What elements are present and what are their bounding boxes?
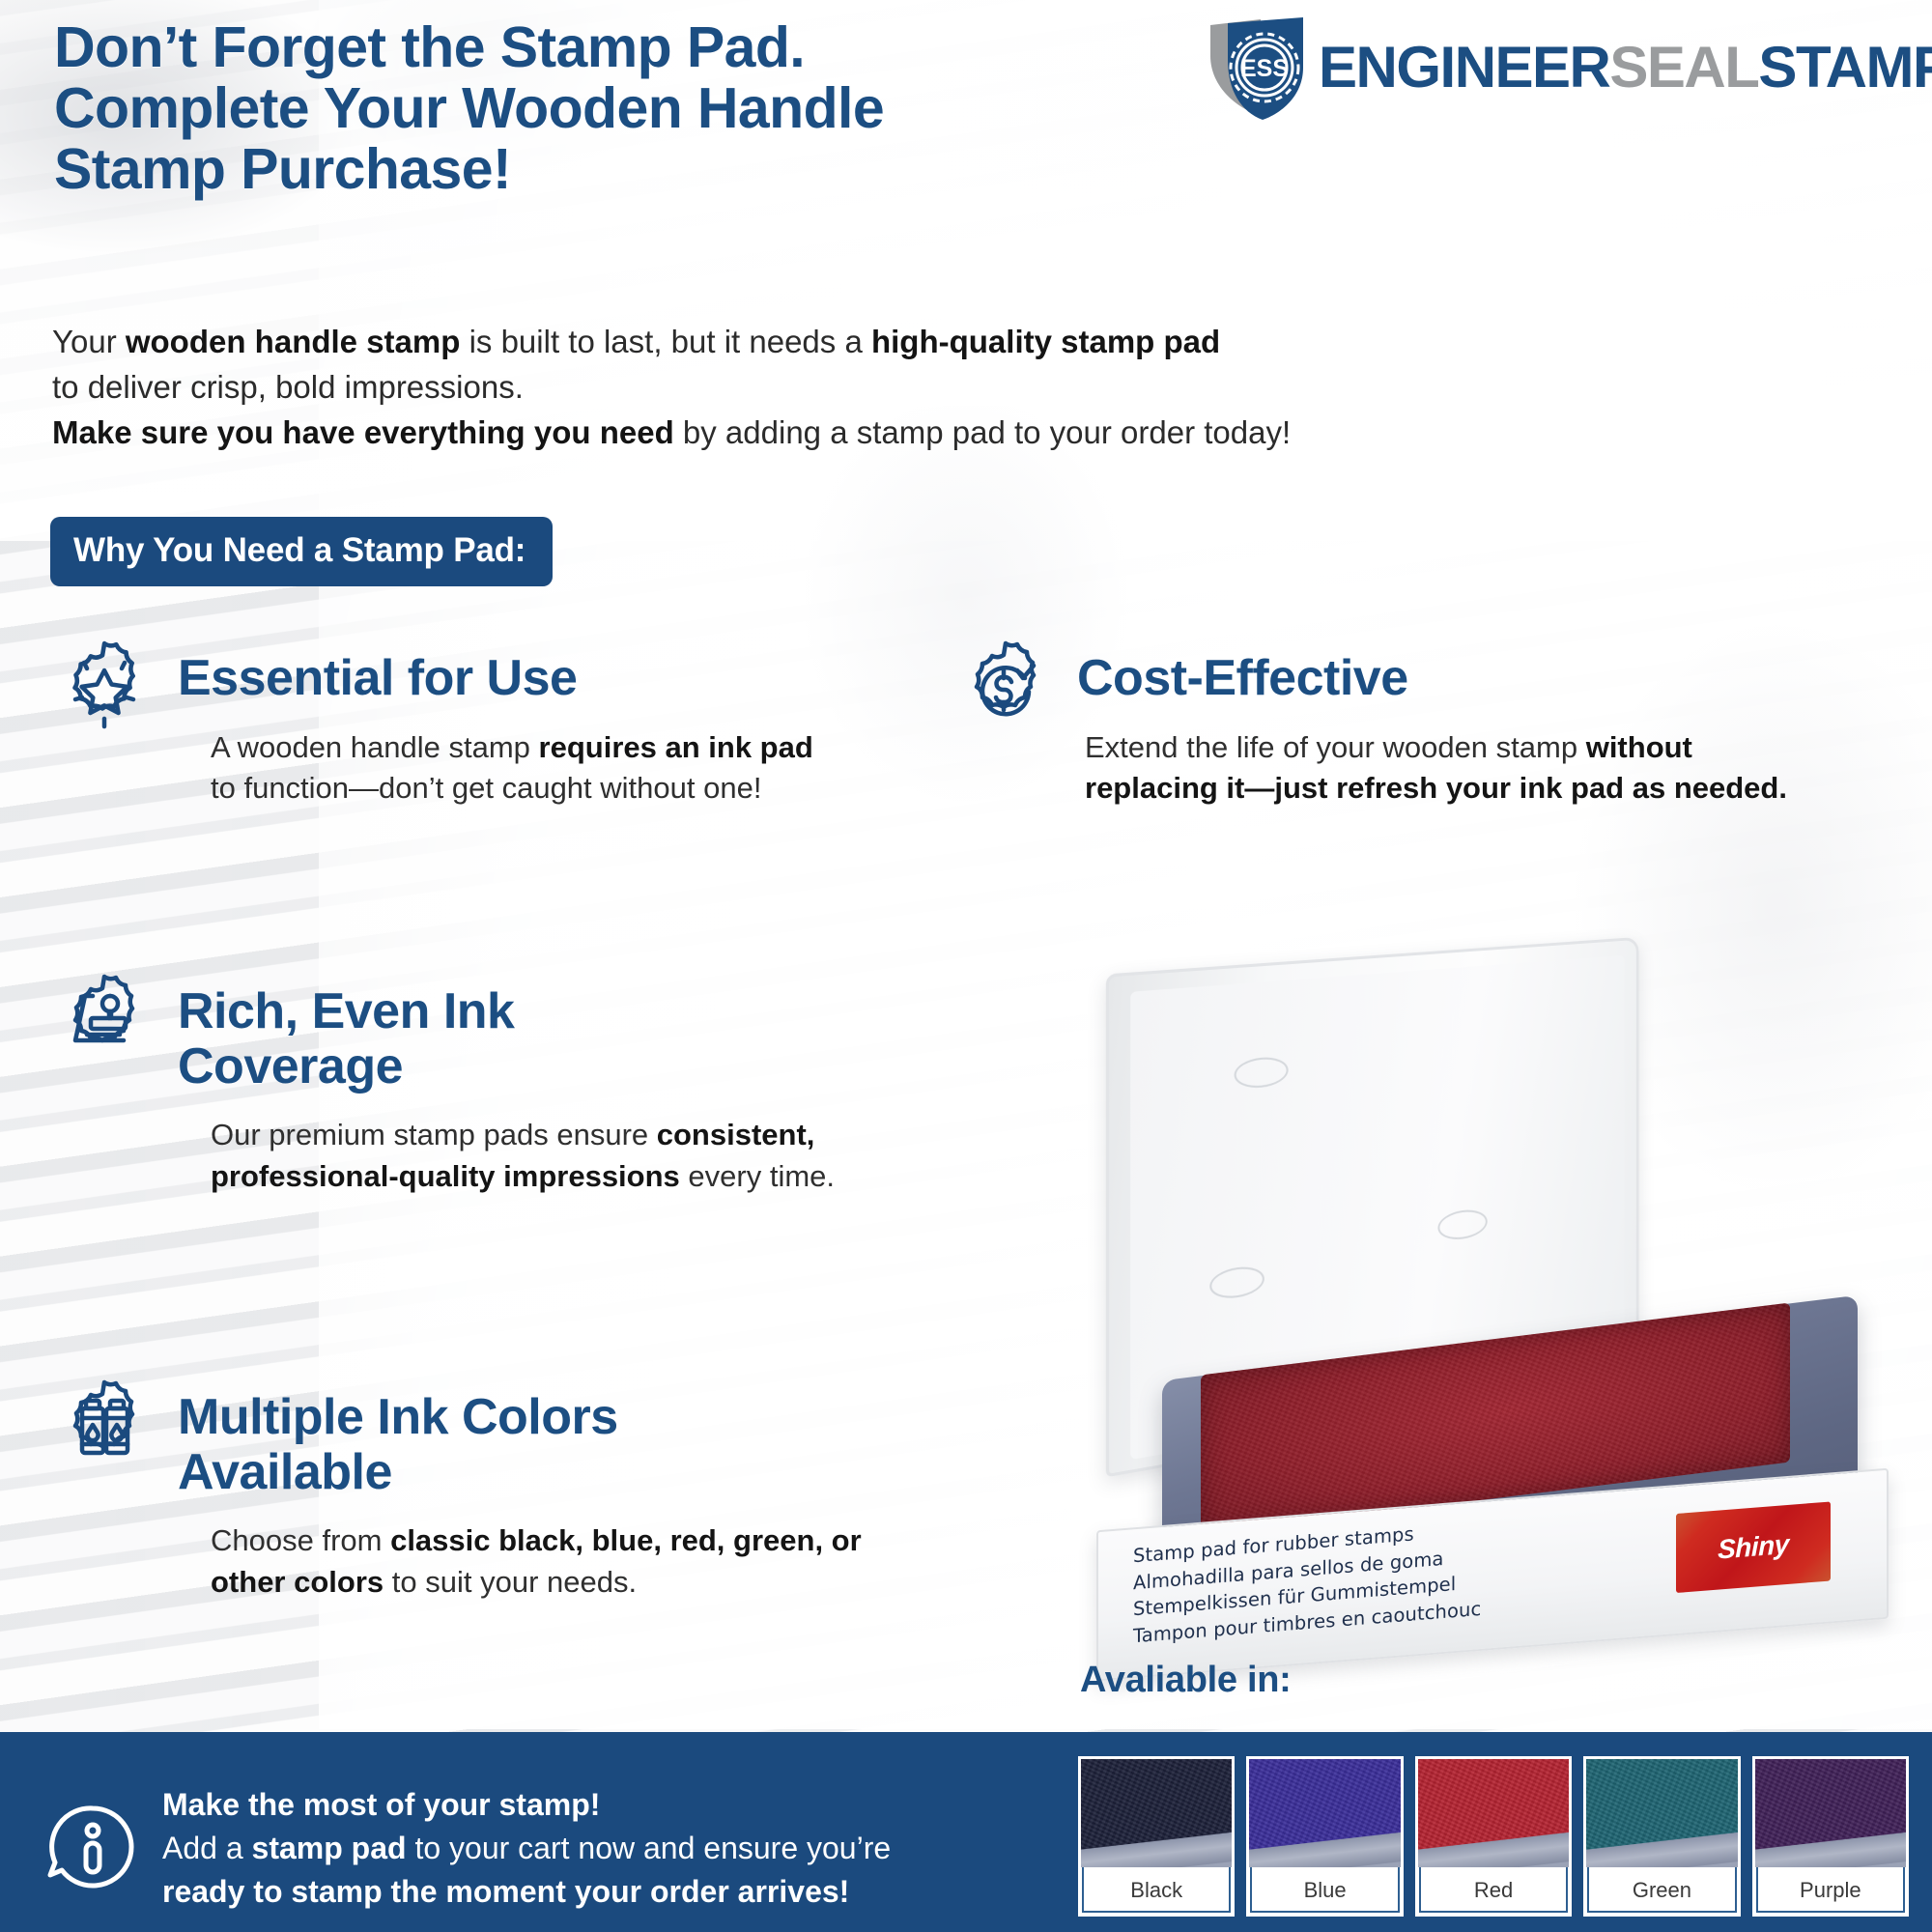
- info-speech-bubble-icon: [43, 1799, 143, 1899]
- logo-word-engineer: ENGINEER: [1319, 39, 1609, 97]
- intro-l3-b: by adding a stamp pad to your order toda…: [674, 414, 1291, 450]
- rubber-stamp-badge-icon: [50, 971, 158, 1079]
- feature-title: Multiple Ink Colors Available: [178, 1377, 920, 1499]
- retail-box-text: Stamp pad for rubber stamps Almohadilla …: [1133, 1516, 1481, 1650]
- ess-monogram-text: ESS: [1240, 55, 1289, 82]
- feature-title: Cost-Effective: [1077, 638, 1821, 706]
- feature-body-c: to function—don’t get caught without one…: [211, 771, 761, 805]
- banner-l2-b: stamp pad: [252, 1831, 407, 1865]
- available-in-heading: Avaliable in:: [1080, 1660, 1292, 1701]
- ink-color-swatch-strip: Black Blue Red Green: [1078, 1756, 1909, 1917]
- swatch-blue[interactable]: Blue: [1246, 1756, 1403, 1917]
- shiny-brand-text: Shiny: [1718, 1529, 1789, 1566]
- product-photo-stamp-pad: C-S Stamp pad for rubber stamps Almohadi…: [1087, 947, 1908, 1642]
- swatch-black[interactable]: Black: [1078, 1756, 1235, 1917]
- page-title: Don’t Forget the Stamp Pad. Complete You…: [54, 17, 1213, 200]
- intro-l1-c: is built to last, but it needs a: [460, 324, 871, 359]
- feature-body-b: requires an ink pad: [539, 730, 813, 764]
- intro-l1-b: wooden handle stamp: [126, 324, 461, 359]
- feature-body: Our premium stamp pads ensure consistent…: [211, 1115, 842, 1198]
- brand-logo[interactable]: ESS ENGINEER SEAL STAMPS .COM: [1203, 14, 1922, 122]
- feature-title: Essential for Use: [178, 638, 842, 706]
- swatch-label: Purple: [1755, 1867, 1906, 1914]
- ess-shield-icon: ESS: [1203, 14, 1317, 122]
- swatch-image: [1586, 1759, 1737, 1867]
- feature-body-a: Our premium stamp pads ensure: [211, 1118, 657, 1151]
- headline-line-1: Don’t Forget the Stamp Pad.: [54, 17, 1213, 78]
- headline-line-2: Complete Your Wooden Handle: [54, 78, 1213, 139]
- feature-title-line-2: Available: [178, 1445, 920, 1500]
- ink-bottles-badge-icon: [50, 1377, 158, 1485]
- banner-line-2: Add a stamp pad to your cart now and ens…: [162, 1827, 1051, 1870]
- swatch-label: Blue: [1249, 1867, 1400, 1914]
- feature-body: Extend the life of your wooden stamp wit…: [1085, 727, 1821, 810]
- swatch-image: [1249, 1759, 1400, 1867]
- banner-l2-c: to your cart now and ensure you’re: [407, 1831, 892, 1865]
- swatch-image: [1081, 1759, 1232, 1867]
- feature-cost-effective: Cost-Effective Extend the life of your w…: [952, 638, 1821, 810]
- headline-line-3: Stamp Purchase!: [54, 139, 1213, 200]
- swatch-label: Black: [1081, 1867, 1232, 1914]
- feature-body-c: to suit your needs.: [384, 1565, 637, 1599]
- feature-multiple-ink-colors: Multiple Ink Colors Available Choose fro…: [50, 1377, 920, 1604]
- swatch-label: Green: [1586, 1867, 1737, 1914]
- feature-body-a: Extend the life of your wooden stamp: [1085, 730, 1586, 764]
- banner-l2-a: Add a: [162, 1831, 252, 1865]
- feature-title-line-1: Multiple Ink Colors: [178, 1390, 920, 1445]
- feature-body-c: every time.: [680, 1159, 835, 1193]
- feature-rich-even-ink-coverage: Rich, Even Ink Coverage Our premium stam…: [50, 971, 842, 1198]
- logo-word-stamps: STAMPS: [1758, 39, 1932, 97]
- intro-paragraph: Your wooden handle stamp is built to las…: [52, 319, 1424, 456]
- shiny-brand-badge: Shiny: [1676, 1501, 1831, 1593]
- feature-title-line-1: Rich, Even Ink: [178, 984, 842, 1039]
- section-heading-pill: Why You Need a Stamp Pad:: [50, 517, 553, 586]
- feature-essential-for-use: Essential for Use A wooden handle stamp …: [50, 638, 842, 810]
- feature-body-a: A wooden handle stamp: [211, 730, 539, 764]
- swatch-green[interactable]: Green: [1583, 1756, 1740, 1917]
- banner-message: Make the most of your stamp! Add a stamp…: [162, 1783, 1051, 1914]
- intro-l3-a: Make sure you have everything you need: [52, 414, 674, 450]
- swatch-purple[interactable]: Purple: [1752, 1756, 1909, 1917]
- feature-body: Choose from classic black, blue, red, gr…: [211, 1520, 920, 1604]
- intro-l1-a: Your: [52, 324, 126, 359]
- star-badge-icon: [50, 638, 158, 746]
- infographic-page: Don’t Forget the Stamp Pad. Complete You…: [0, 0, 1932, 1932]
- feature-body-a: Choose from: [211, 1523, 390, 1557]
- intro-l1-d: high-quality stamp pad: [871, 324, 1220, 359]
- feature-title: Rich, Even Ink Coverage: [178, 971, 842, 1094]
- dollar-check-badge-icon: [952, 638, 1060, 746]
- logo-wordmark: ENGINEER SEAL STAMPS .COM: [1319, 39, 1932, 97]
- banner-line-3: ready to stamp the moment your order arr…: [162, 1870, 1051, 1914]
- swatch-image: [1755, 1759, 1906, 1867]
- feature-body: A wooden handle stamp requires an ink pa…: [211, 727, 842, 810]
- feature-title-line-2: Coverage: [178, 1039, 842, 1094]
- logo-word-seal: SEAL: [1609, 39, 1758, 97]
- intro-l2: to deliver crisp, bold impressions.: [52, 369, 524, 405]
- swatch-red[interactable]: Red: [1415, 1756, 1572, 1917]
- swatch-label: Red: [1418, 1867, 1569, 1914]
- banner-line-1: Make the most of your stamp!: [162, 1783, 1051, 1827]
- swatch-image: [1418, 1759, 1569, 1867]
